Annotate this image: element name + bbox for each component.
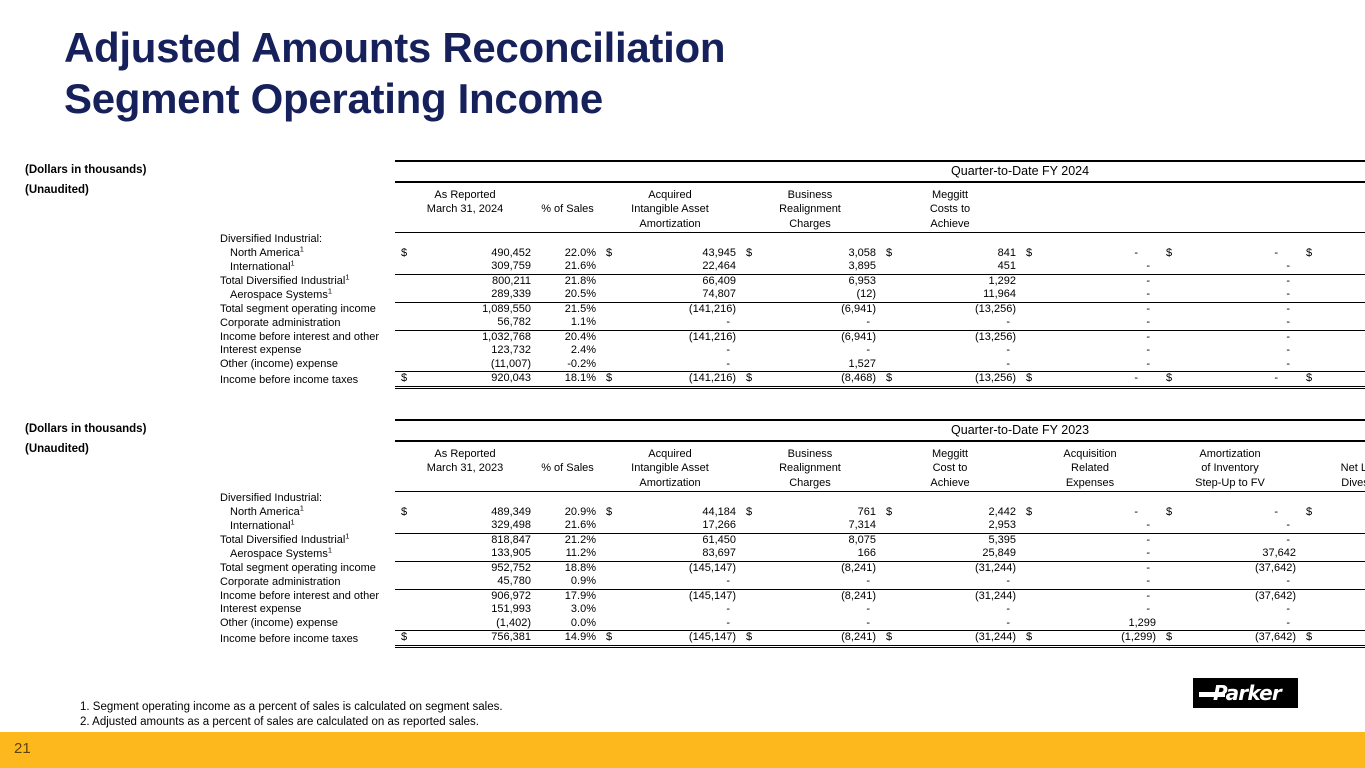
row-cell: - — [1300, 589, 1365, 603]
row-cell: - — [880, 603, 1020, 617]
header-corner — [220, 477, 395, 492]
row-cell: 21.5% — [535, 302, 600, 316]
row-cell: - — [1020, 547, 1160, 561]
column-header-6 — [1160, 203, 1300, 218]
row-cell: - — [600, 316, 740, 330]
column-header-3: Business — [740, 448, 880, 463]
column-header-7: Net Loss on — [1300, 462, 1365, 477]
row-cell: $(145,147) — [600, 631, 740, 647]
row-cell-empty — [1300, 233, 1365, 247]
header-gap — [220, 441, 1365, 448]
currency-symbol: $ — [606, 372, 612, 386]
row-label: International1 — [220, 519, 395, 533]
column-header-4: Cost to — [880, 462, 1020, 477]
row-cell: - — [1160, 302, 1300, 316]
row-cell: 2,953 — [880, 519, 1020, 533]
row-cell: - — [1160, 358, 1300, 372]
column-header-0: As Reported — [395, 448, 535, 463]
currency-symbol: $ — [1166, 372, 1172, 386]
row-cell: - — [1020, 589, 1160, 603]
row-cell: 6,953 — [740, 274, 880, 288]
row-cell: $- — [1160, 372, 1300, 388]
units-line-unaudited: (Unaudited) — [25, 180, 220, 200]
row-cell: - — [1020, 575, 1160, 589]
row-label: Corporate administration — [220, 575, 395, 589]
row-cell: - — [880, 316, 1020, 330]
row-cell: 952,752 — [395, 561, 535, 575]
logo-wordmark: Parker — [1213, 681, 1281, 705]
currency-symbol: $ — [746, 372, 752, 386]
column-header-4: Achieve — [880, 477, 1020, 492]
row-cell: 1,292 — [880, 274, 1020, 288]
column-header-5: Acquisition — [1020, 448, 1160, 463]
row-cell: - — [1020, 274, 1160, 288]
currency-symbol: $ — [1026, 247, 1032, 261]
currency-symbol: $ — [1306, 506, 1312, 520]
currency-symbol: $ — [1166, 506, 1172, 520]
column-header-0 — [395, 218, 535, 233]
row-cell: (13,256) — [880, 330, 1020, 344]
row-cell: (8,241) — [740, 561, 880, 575]
table-row: Corporate administration45,7800.9%------… — [220, 575, 1365, 589]
row-cell: 1,032,768 — [395, 330, 535, 344]
column-header-2: Amortization — [600, 477, 740, 492]
footer-bar: 21 — [0, 732, 1365, 768]
row-cell-empty — [1160, 233, 1300, 247]
row-cell: 20.5% — [535, 288, 600, 302]
row-cell: - — [1160, 316, 1300, 330]
table-row: Total Diversified Industrial1818,84721.2… — [220, 533, 1365, 547]
row-cell: (8,241) — [740, 589, 880, 603]
table-row: Other (income) expense(11,007)-0.2%-1,52… — [220, 358, 1365, 372]
column-header-6: Step-Up to FV — [1160, 477, 1300, 492]
banner-spacer — [220, 161, 395, 182]
row-cell: $841 — [880, 247, 1020, 261]
column-header-2: Intangible Asset — [600, 462, 740, 477]
header-row-2: March 31, 2023% of SalesIntangible Asset… — [220, 462, 1365, 477]
currency-symbol: $ — [606, 247, 612, 261]
row-cell: - — [600, 358, 740, 372]
row-cell: 123,732 — [395, 344, 535, 358]
header-corner — [220, 189, 395, 204]
row-cell-empty — [600, 492, 740, 506]
row-cell: - — [1300, 260, 1365, 274]
row-cell: 133,905 — [395, 547, 535, 561]
banner-row: Quarter-to-Date FY 2024 — [220, 161, 1365, 182]
row-cell: - — [600, 617, 740, 631]
column-header-2: Intangible Asset — [600, 203, 740, 218]
units-line-unaudited: (Unaudited) — [25, 439, 220, 459]
row-cell: - — [1160, 274, 1300, 288]
row-cell: $- — [1160, 247, 1300, 261]
column-header-3: Realignment — [740, 203, 880, 218]
row-label: Other (income) expense — [220, 358, 395, 372]
table-row: Income before interest and other1,032,76… — [220, 330, 1365, 344]
currency-symbol: $ — [401, 506, 407, 520]
row-cell: 1,527 — [740, 358, 880, 372]
row-cell: 1.1% — [535, 316, 600, 330]
row-label: Total segment operating income — [220, 302, 395, 316]
column-header-3: Charges — [740, 477, 880, 492]
table-row: Aerospace Systems1289,33920.5%74,807(12)… — [220, 288, 1365, 302]
row-cell: 2.4% — [535, 344, 600, 358]
table-row: Aerospace Systems1133,90511.2%83,6971662… — [220, 547, 1365, 561]
row-cell: 329,498 — [395, 519, 535, 533]
row-cell: $(10,927) — [1300, 631, 1365, 647]
row-cell: $756,381 — [395, 631, 535, 647]
row-cell: 3,895 — [740, 260, 880, 274]
row-cell: 289,339 — [395, 288, 535, 302]
column-header-1 — [535, 189, 600, 204]
page-number: 21 — [14, 740, 31, 757]
row-cell: - — [1020, 316, 1160, 330]
row-cell: 3.0% — [535, 603, 600, 617]
table-row: Diversified Industrial: — [220, 492, 1365, 506]
row-label: Interest expense — [220, 344, 395, 358]
row-cell: - — [740, 617, 880, 631]
row-cell: - — [740, 316, 880, 330]
row-label: Interest expense — [220, 603, 395, 617]
row-cell: - — [880, 575, 1020, 589]
header-row-3: AmortizationChargesAchieveMarch 31, 2024… — [220, 218, 1365, 233]
row-cell: - — [880, 358, 1020, 372]
table-row: Corporate administration56,7821.1%------… — [220, 316, 1365, 330]
table-row: Total segment operating income1,089,5502… — [220, 302, 1365, 316]
currency-symbol: $ — [886, 372, 892, 386]
column-header-0: As Reported — [395, 189, 535, 204]
row-cell: - — [1160, 603, 1300, 617]
column-header-5 — [1020, 203, 1160, 218]
row-cell: $- — [1300, 372, 1365, 388]
row-cell: 1,299 — [1020, 617, 1160, 631]
currency-symbol: $ — [401, 631, 407, 645]
row-label: Aerospace Systems1 — [220, 547, 395, 561]
column-header-7 — [1300, 448, 1365, 463]
currency-symbol: $ — [886, 506, 892, 520]
row-cell: $- — [1300, 247, 1365, 261]
row-cell: 11.2% — [535, 547, 600, 561]
header-row-1: As ReportedAcquiredBusinessMeggittAcquis… — [220, 448, 1365, 463]
row-cell: (13,256) — [880, 302, 1020, 316]
column-header-2: Amortization — [600, 218, 740, 233]
row-cell: - — [1160, 533, 1300, 547]
row-cell: - — [600, 344, 740, 358]
row-label: Total Diversified Industrial1 — [220, 274, 395, 288]
row-cell: 83,697 — [600, 547, 740, 561]
currency-symbol: $ — [886, 631, 892, 645]
currency-symbol: $ — [1306, 631, 1312, 645]
row-cell: 21.2% — [535, 533, 600, 547]
row-cell: - — [1020, 302, 1160, 316]
row-cell: - — [1020, 330, 1160, 344]
parker-logo: Parker — [1193, 678, 1298, 708]
row-cell: - — [1300, 533, 1365, 547]
table-row: Income before income taxes$756,38114.9%$… — [220, 631, 1365, 647]
table-row: North America1$489,34920.9%$44,184$761$2… — [220, 506, 1365, 520]
column-header-4: Costs to — [880, 203, 1020, 218]
row-cell: 8,075 — [740, 533, 880, 547]
row-cell: $(13,256) — [880, 372, 1020, 388]
header-gap-row — [220, 182, 1365, 189]
column-header-1 — [535, 448, 600, 463]
row-cell: - — [1160, 288, 1300, 302]
row-cell: 18.1% — [535, 372, 600, 388]
row-label: Diversified Industrial: — [220, 233, 395, 247]
row-cell: 800,211 — [395, 274, 535, 288]
row-cell: - — [1160, 617, 1300, 631]
row-cell: $(37,642) — [1160, 631, 1300, 647]
footnotes: 1. Segment operating income as a percent… — [80, 700, 503, 730]
row-cell: 37,642 — [1160, 547, 1300, 561]
row-cell: $3,058 — [740, 247, 880, 261]
footnote-2: 2. Adjusted amounts as a percent of sale… — [80, 715, 503, 730]
row-label: North America1 — [220, 506, 395, 520]
table-row: Other (income) expense(1,402)0.0%---1,29… — [220, 617, 1365, 631]
row-cell: - — [1300, 330, 1365, 344]
column-header-1: % of Sales — [535, 462, 600, 477]
row-cell: - — [1160, 260, 1300, 274]
units-line-dollars: (Dollars in thousands) — [25, 419, 220, 439]
column-header-7 — [1300, 218, 1365, 233]
row-cell: (31,244) — [880, 561, 1020, 575]
row-cell: - — [1020, 603, 1160, 617]
row-cell: (1,402) — [395, 617, 535, 631]
row-cell-empty — [395, 233, 535, 247]
row-cell: (141,216) — [600, 302, 740, 316]
column-header-5: Related — [1020, 462, 1160, 477]
row-cell: - — [1020, 260, 1160, 274]
row-label: Diversified Industrial: — [220, 492, 395, 506]
row-cell: 0.9% — [535, 575, 600, 589]
row-cell: (37,642) — [1160, 561, 1300, 575]
row-cell: 25,849 — [880, 547, 1020, 561]
column-header-3: Charges — [740, 218, 880, 233]
period-banner: Quarter-to-Date FY 2024 — [395, 161, 1365, 182]
table-row: Income before income taxes$920,04318.1%$… — [220, 372, 1365, 388]
row-cell: 20.4% — [535, 330, 600, 344]
column-header-7: Divestitures — [1300, 477, 1365, 492]
header-corner — [220, 448, 395, 463]
row-cell: - — [880, 344, 1020, 358]
period-banner: Quarter-to-Date FY 2023 — [395, 420, 1365, 441]
row-cell: $- — [1020, 372, 1160, 388]
row-cell: - — [600, 575, 740, 589]
row-cell: $- — [1020, 247, 1160, 261]
column-header-0: March 31, 2024 — [395, 203, 535, 218]
row-cell: - — [740, 344, 880, 358]
row-cell: 309,759 — [395, 260, 535, 274]
column-header-2: Acquired — [600, 448, 740, 463]
row-cell-empty — [740, 492, 880, 506]
row-cell: -0.2% — [535, 358, 600, 372]
row-cell: $43,945 — [600, 247, 740, 261]
table-row: Diversified Industrial: — [220, 233, 1365, 247]
header-row-1: As ReportedAcquiredBusinessMeggitt — [220, 189, 1365, 204]
row-cell-empty — [1020, 233, 1160, 247]
row-cell: - — [1300, 358, 1365, 372]
column-header-5: Expenses — [1020, 477, 1160, 492]
row-cell: - — [1300, 302, 1365, 316]
column-header-5 — [1020, 218, 1160, 233]
row-cell: - — [1160, 344, 1300, 358]
row-cell: $- — [1020, 506, 1160, 520]
row-cell: 818,847 — [395, 533, 535, 547]
row-label: Corporate administration — [220, 316, 395, 330]
row-cell: - — [600, 603, 740, 617]
row-cell: (12) — [740, 288, 880, 302]
table-row: International1309,75921.6%22,4643,895451… — [220, 260, 1365, 274]
row-cell-empty — [395, 492, 535, 506]
row-cell: $2,442 — [880, 506, 1020, 520]
header-row-2: March 31, 2024% of SalesIntangible Asset… — [220, 203, 1365, 218]
row-cell: - — [1020, 533, 1160, 547]
column-header-1: % of Sales — [535, 203, 600, 218]
currency-symbol: $ — [1026, 372, 1032, 386]
row-cell: $(1,299) — [1020, 631, 1160, 647]
row-cell: - — [880, 617, 1020, 631]
row-cell: (31,244) — [880, 589, 1020, 603]
reconciliation-table-fy2024: Quarter-to-Date FY 2024As ReportedAcquir… — [220, 160, 1365, 389]
row-cell: $761 — [740, 506, 880, 520]
table-row: Interest expense123,7322.4%------123,732… — [220, 344, 1365, 358]
column-header-1 — [535, 218, 600, 233]
header-gap — [220, 182, 1365, 189]
row-cell: (145,147) — [600, 561, 740, 575]
currency-symbol: $ — [606, 506, 612, 520]
row-cell: 1,089,550 — [395, 302, 535, 316]
column-header-4: Meggitt — [880, 189, 1020, 204]
column-header-1 — [535, 477, 600, 492]
row-cell: $(8,468) — [740, 372, 880, 388]
table-row: North America1$490,45222.0%$43,945$3,058… — [220, 247, 1365, 261]
row-cell: 21.6% — [535, 519, 600, 533]
row-cell: 14.9% — [535, 631, 600, 647]
row-cell: - — [1020, 561, 1160, 575]
column-header-6: of Inventory — [1160, 462, 1300, 477]
row-cell: 906,972 — [395, 589, 535, 603]
row-label: Income before interest and other — [220, 330, 395, 344]
row-cell: 45,780 — [395, 575, 535, 589]
row-cell-empty — [880, 492, 1020, 506]
row-cell: 151,993 — [395, 603, 535, 617]
row-cell: $(8,241) — [740, 631, 880, 647]
row-cell: 21.6% — [535, 260, 600, 274]
currency-symbol: $ — [606, 631, 612, 645]
currency-symbol: $ — [1306, 372, 1312, 386]
row-cell: $490,452 — [395, 247, 535, 261]
header-corner — [220, 218, 395, 233]
row-cell: 11,964 — [880, 288, 1020, 302]
currency-symbol: $ — [1026, 506, 1032, 520]
row-cell: - — [1300, 603, 1365, 617]
column-header-3: Business — [740, 189, 880, 204]
row-label: Total segment operating income — [220, 561, 395, 575]
row-cell: (145,147) — [600, 589, 740, 603]
row-cell: 22,464 — [600, 260, 740, 274]
row-cell: - — [1300, 575, 1365, 589]
header-corner — [220, 203, 395, 218]
row-cell: 22.0% — [535, 247, 600, 261]
header-gap-row — [220, 441, 1365, 448]
row-cell-empty — [880, 233, 1020, 247]
row-cell-empty — [535, 492, 600, 506]
row-cell: $- — [1300, 506, 1365, 520]
row-cell: (6,941) — [740, 330, 880, 344]
row-label: International1 — [220, 260, 395, 274]
currency-symbol: $ — [1306, 247, 1312, 261]
row-cell: - — [1300, 547, 1365, 561]
row-cell: 21.8% — [535, 274, 600, 288]
column-header-5 — [1020, 189, 1160, 204]
column-header-4: Meggitt — [880, 448, 1020, 463]
currency-symbol: $ — [1166, 247, 1172, 261]
row-cell: - — [1160, 519, 1300, 533]
row-cell-empty — [1300, 492, 1365, 506]
table-row: Interest expense151,9933.0%------151,993… — [220, 603, 1365, 617]
units-note-fy2024: (Dollars in thousands) (Unaudited) — [25, 160, 220, 200]
row-cell: (11,007) — [395, 358, 535, 372]
row-cell: 10,927 — [1300, 617, 1365, 631]
row-cell: $920,043 — [395, 372, 535, 388]
row-cell: (6,941) — [740, 302, 880, 316]
row-cell-empty — [1020, 492, 1160, 506]
row-label: Other (income) expense — [220, 617, 395, 631]
row-cell: - — [740, 575, 880, 589]
banner-spacer — [220, 420, 395, 441]
row-label: Total Diversified Industrial1 — [220, 533, 395, 547]
row-cell: 17,266 — [600, 519, 740, 533]
column-header-6: Amortization — [1160, 448, 1300, 463]
row-cell: 61,450 — [600, 533, 740, 547]
header-row-3: AmortizationChargesAchieveExpensesStep-U… — [220, 477, 1365, 492]
table-row: Total segment operating income952,75218.… — [220, 561, 1365, 575]
currency-symbol: $ — [401, 372, 407, 386]
currency-symbol: $ — [886, 247, 892, 261]
row-cell: - — [740, 603, 880, 617]
table-row: International1329,49821.6%17,2667,3142,9… — [220, 519, 1365, 533]
row-cell-empty — [1160, 492, 1300, 506]
row-cell: $(31,244) — [880, 631, 1020, 647]
row-cell: 0.0% — [535, 617, 600, 631]
column-header-6 — [1160, 218, 1300, 233]
row-cell: $- — [1160, 506, 1300, 520]
column-header-0 — [395, 477, 535, 492]
row-cell: - — [1020, 288, 1160, 302]
row-cell: - — [1020, 519, 1160, 533]
row-cell: 56,782 — [395, 316, 535, 330]
row-cell: 66,409 — [600, 274, 740, 288]
row-cell: - — [1300, 519, 1365, 533]
row-cell: 451 — [880, 260, 1020, 274]
row-cell: 18.8% — [535, 561, 600, 575]
currency-symbol: $ — [746, 247, 752, 261]
row-cell: - — [1300, 344, 1365, 358]
reconciliation-table-fy2023: Quarter-to-Date FY 2023As ReportedAcquir… — [220, 419, 1365, 648]
units-note-fy2023: (Dollars in thousands) (Unaudited) — [25, 419, 220, 459]
column-header-7 — [1300, 203, 1365, 218]
row-cell: - — [1160, 575, 1300, 589]
row-label: North America1 — [220, 247, 395, 261]
row-label: Income before income taxes — [220, 631, 395, 647]
row-cell: 74,807 — [600, 288, 740, 302]
column-header-2: Acquired — [600, 189, 740, 204]
page-title: Adjusted Amounts Reconciliation Segment … — [64, 22, 725, 124]
table-row: Total Diversified Industrial1800,21121.8… — [220, 274, 1365, 288]
row-cell: - — [1020, 358, 1160, 372]
row-cell: (141,216) — [600, 330, 740, 344]
currency-symbol: $ — [746, 506, 752, 520]
currency-symbol: $ — [1166, 631, 1172, 645]
